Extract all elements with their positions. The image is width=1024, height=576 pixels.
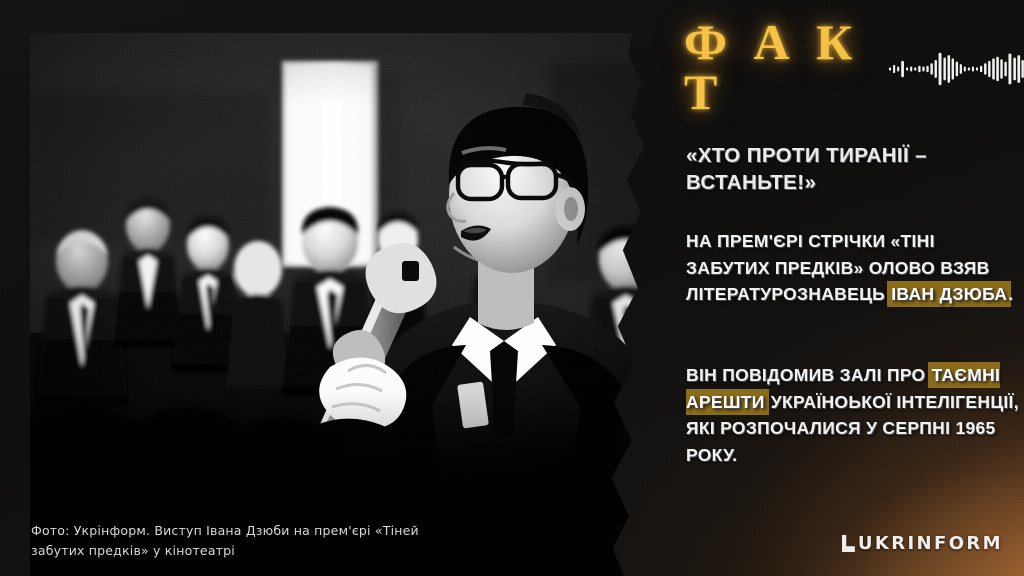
audio-waveform-icon (889, 46, 1024, 92)
fact-label: Ф А К Т (684, 17, 875, 117)
ukrinform-mark-icon (842, 535, 855, 552)
paragraph-one-tail: . (1008, 284, 1013, 304)
ukrinform-logo-text: UKRINFORM (858, 533, 1003, 554)
paragraph-two: ВІН ПОВІДОМИВ ЗАЛІ ПРО ТАЄМНІ АРЕШТИ УКР… (686, 362, 1020, 468)
photo-illustration (30, 33, 658, 576)
fact-card: Фото: Укрінформ. Виступ Івана Дзюби на п… (0, 0, 1024, 576)
paragraph-one: НА ПРЕМ'ЄРІ СТРІЧКИ «ТІНІ ЗАБУТИХ ПРЕДКІ… (686, 228, 1020, 308)
highlight-ivan-dziuba: ІВАН ДЗЮБА (890, 284, 1008, 304)
paragraph-two-lead: ВІН ПОВІДОМИВ ЗАЛІ ПРО (686, 365, 931, 385)
info-panel: Ф А К Т (684, 0, 1024, 576)
ukrinform-logo[interactable]: UKRINFORM (842, 533, 1003, 554)
photo-caption: Фото: Укрінформ. Виступ Івана Дзюби на п… (31, 521, 461, 560)
headline: «ХТО ПРОТИ ТИРАНІЇ – ВСТАНЬТЕ!» (686, 142, 1016, 197)
fact-brand-row: Ф А К Т (684, 36, 1024, 98)
historical-photo (30, 33, 658, 576)
